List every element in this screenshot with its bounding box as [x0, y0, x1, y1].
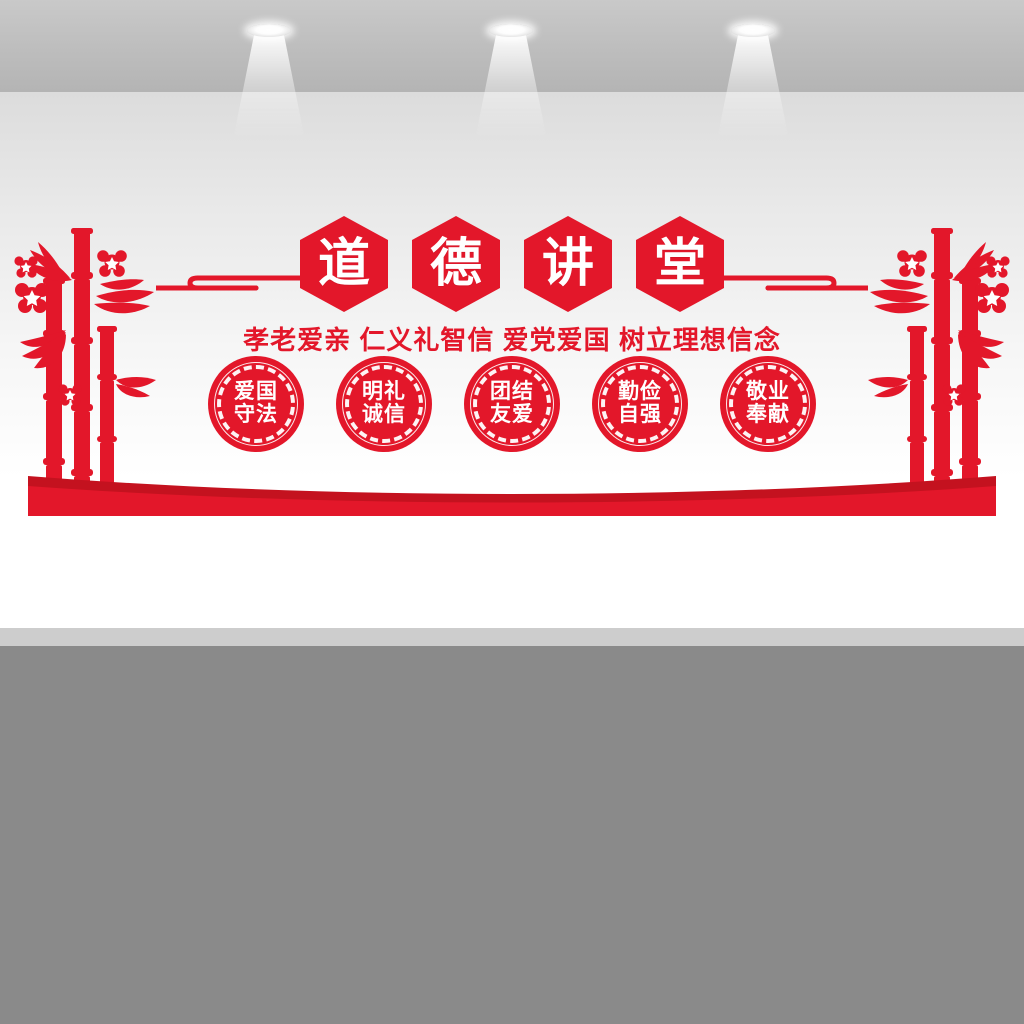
lamp-icon	[489, 24, 533, 37]
badge-line-1: 明礼	[362, 381, 406, 404]
bamboo-leaf	[94, 279, 154, 313]
title-hexagon: 堂	[636, 216, 724, 312]
wall-artwork-main: 道 德 讲 堂 孝老爱亲 仁义礼智信 爱党爱国 树立理想信念 爱国	[8, 216, 1016, 526]
lamp-icon	[247, 24, 291, 37]
bamboo-stalk	[907, 326, 927, 490]
plum-blossom	[97, 250, 127, 277]
red-base-platform	[28, 468, 996, 516]
lamp-icon	[731, 24, 775, 37]
bamboo-leaf	[116, 377, 156, 397]
bamboo-leaf	[870, 279, 930, 313]
ceiling-spotlight	[247, 24, 291, 38]
bamboo-stalk	[43, 278, 65, 490]
badge-line-1: 团结	[490, 381, 534, 404]
badge-line-2: 自强	[618, 404, 662, 427]
bottom-panel: 矢量图设计 放大不模糊 修改方便 印刷出众	[0, 646, 1024, 1024]
bamboo-stalk	[931, 228, 953, 490]
title-hexagon: 讲	[524, 216, 612, 312]
badge-text: 勤俭 自强	[618, 381, 662, 426]
virtue-badge: 敬业 奉献	[720, 356, 816, 452]
bamboo-stalk	[959, 278, 981, 490]
virtue-badge: 勤俭 自强	[592, 356, 688, 452]
title-char: 德	[430, 238, 482, 290]
title-char: 道	[318, 238, 370, 290]
bamboo-decoration-right	[856, 222, 1016, 490]
plum-blossom	[975, 283, 1009, 313]
ceiling-spotlight	[731, 24, 775, 38]
room-scene: 道 德 讲 堂 孝老爱亲 仁义礼智信 爱党爱国 树立理想信念 爱国	[0, 0, 1024, 628]
title-char: 堂	[654, 238, 706, 290]
virtue-badge: 爱国 守法	[208, 356, 304, 452]
badge-line-1: 爱国	[234, 381, 278, 404]
badge-line-1: 勤俭	[618, 381, 662, 404]
bamboo-leaf	[868, 377, 908, 397]
divider-band	[0, 628, 1024, 646]
decorative-connector-right	[703, 266, 868, 298]
title-hexagon: 德	[412, 216, 500, 312]
virtue-badge-row: 爱国 守法 明礼 诚信 团结 友爱	[208, 356, 816, 452]
badge-line-2: 奉献	[746, 404, 790, 427]
bamboo-decoration-left	[8, 222, 168, 490]
title-char: 讲	[542, 238, 594, 290]
badge-line-2: 诚信	[362, 404, 406, 427]
ceiling-spotlight	[489, 24, 533, 38]
badge-line-1: 敬业	[746, 381, 790, 404]
title-hexagon-row: 道 德 讲 堂	[300, 216, 724, 312]
plum-blossom	[897, 250, 927, 277]
virtue-badge: 明礼 诚信	[336, 356, 432, 452]
bamboo-stalk	[97, 326, 117, 490]
badge-text: 敬业 奉献	[746, 381, 790, 426]
title-hexagon: 道	[300, 216, 388, 312]
badge-text: 爱国 守法	[234, 381, 278, 426]
badge-text: 团结 友爱	[490, 381, 534, 426]
bamboo-stalk	[71, 228, 93, 490]
artwork-subtitle: 孝老爱亲 仁义礼智信 爱党爱国 树立理想信念	[243, 320, 781, 357]
badge-line-2: 守法	[234, 404, 278, 427]
decorative-connector-left	[156, 266, 321, 298]
badge-line-2: 友爱	[490, 404, 534, 427]
virtue-badge: 团结 友爱	[464, 356, 560, 452]
plum-blossom	[15, 283, 49, 313]
badge-text: 明礼 诚信	[362, 381, 406, 426]
